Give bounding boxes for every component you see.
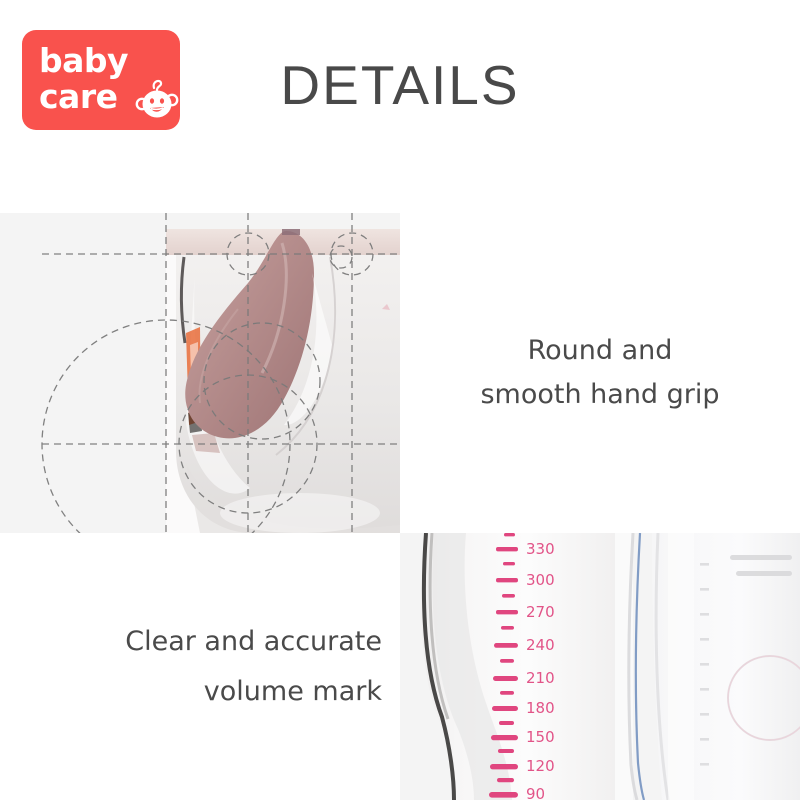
product-detail-page: baby care DETA — [0, 0, 800, 800]
scale-label: 120 — [526, 757, 555, 775]
volume-mark-photo: 330 300 270 240 210 180 150 120 90 — [400, 533, 800, 800]
scale-label: 330 — [526, 540, 555, 558]
scale-label: 90 — [526, 785, 545, 800]
scale-label: 300 — [526, 571, 555, 589]
scale-label: 150 — [526, 728, 555, 746]
hand-grip-photo-panel — [0, 213, 400, 533]
volume-mark-caption: Clear and accurate volume mark — [125, 617, 400, 717]
page-title: DETAILS — [0, 54, 800, 116]
volume-mark-caption-panel: Clear and accurate volume mark — [0, 533, 400, 800]
page-header: baby care DETA — [0, 0, 800, 200]
scale-label: 240 — [526, 636, 555, 654]
hand-grip-caption-panel: Round and smooth hand grip — [400, 213, 800, 533]
scale-label: 180 — [526, 699, 555, 717]
hand-grip-photo — [0, 213, 400, 533]
volume-mark-photo-panel: 330 300 270 240 210 180 150 120 90 — [400, 533, 800, 800]
volume-scale-labels: 330 300 270 240 210 180 150 120 90 — [526, 540, 555, 800]
scale-label: 270 — [526, 603, 555, 621]
scale-label: 210 — [526, 669, 555, 687]
hand-grip-caption: Round and smooth hand grip — [480, 329, 719, 417]
